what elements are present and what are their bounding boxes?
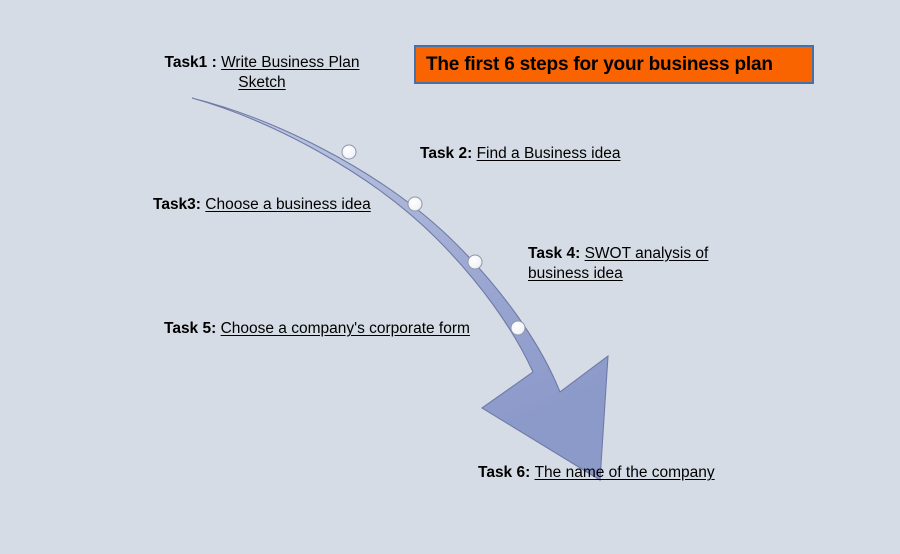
task-1-body: Write Business Plan Sketch bbox=[221, 54, 359, 91]
task-5-lead: Task 5: bbox=[164, 320, 221, 337]
task-label-2[interactable]: Task 2: Find a Business idea bbox=[420, 144, 620, 164]
task-5-body: Choose a company's corporate form bbox=[221, 320, 470, 337]
task-1-lead: Task1 : bbox=[165, 54, 222, 71]
task-6-lead: Task 6: bbox=[478, 464, 535, 481]
title-banner-text: The first 6 steps for your business plan bbox=[416, 54, 773, 76]
task-6-body: The name of the company bbox=[535, 464, 715, 481]
arrow-marker-2[interactable] bbox=[408, 197, 422, 211]
slide-canvas: The first 6 steps for your business plan… bbox=[0, 0, 900, 554]
arrow-marker-3[interactable] bbox=[468, 255, 482, 269]
task-label-4[interactable]: Task 4: SWOT analysis of business idea bbox=[528, 244, 714, 284]
task-label-6[interactable]: Task 6: The name of the company bbox=[478, 463, 715, 483]
arrow-marker-1[interactable] bbox=[342, 145, 356, 159]
task-label-1[interactable]: Task1 : Write Business Plan Sketch bbox=[162, 53, 362, 93]
task-3-lead: Task3: bbox=[153, 196, 205, 213]
task-label-5[interactable]: Task 5: Choose a company's corporate for… bbox=[164, 319, 470, 339]
title-banner[interactable]: The first 6 steps for your business plan bbox=[414, 45, 814, 84]
task-2-lead: Task 2: bbox=[420, 145, 477, 162]
arrow-marker-4[interactable] bbox=[511, 321, 525, 335]
task-3-body: Choose a business idea bbox=[205, 196, 370, 213]
task-2-body: Find a Business idea bbox=[477, 145, 621, 162]
task-4-lead: Task 4: bbox=[528, 245, 585, 262]
task-label-3[interactable]: Task3: Choose a business idea bbox=[153, 195, 371, 215]
